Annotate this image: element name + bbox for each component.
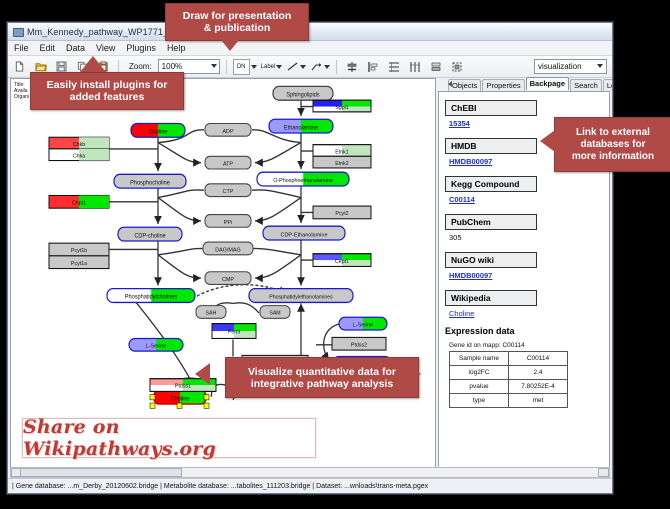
node-label: Ptdss2 [351,342,367,348]
node-label: CMP [222,277,234,283]
align-center-icon[interactable] [343,58,360,75]
pubchem-value: 305 [449,233,603,242]
datanode-tool[interactable]: DN [233,59,257,75]
kegg-link[interactable]: C00114 [449,195,603,204]
statusbar-text: | Gene database: ...m_Derby_20120602.bri… [12,483,428,490]
cell-value: 2.4 [509,366,568,380]
node-label: Phosphatidylcholines [125,295,178,301]
tab-backpage[interactable]: Backpage [526,77,569,90]
node-label: Chkb [73,142,85,148]
zoom-value: 100% [162,62,182,71]
scroll-right-arrow-icon[interactable] [598,468,609,477]
menu-edit[interactable]: Edit [39,43,57,53]
node-label: L-Serine [353,322,373,328]
section-heading-pubchem: PubChem [445,214,537,230]
window-footer: | Gene database: ...m_Derby_20120602.bri… [8,467,612,493]
callout-plugins-arrow-icon [80,56,106,72]
node-label: CTP [223,189,234,195]
callout-visualize-arrow-left-icon [195,363,210,385]
chevron-down-icon[interactable] [300,65,306,69]
callout-plugins-line2: added features [47,91,168,103]
label-tool[interactable]: Label [261,64,283,70]
metabolite-node[interactable]: CMP [205,272,251,285]
node-label: PPi [224,220,232,226]
node-label: Pcyt1b [71,248,87,254]
callout-draw-line2: & publication [183,22,292,34]
gene-node[interactable]: Sgpl1 [313,100,371,112]
distribute-horizontal-icon[interactable] [406,58,423,75]
align-left-icon[interactable] [364,58,381,75]
metabolite-node[interactable]: SAM [260,306,290,319]
node-label: Sgpl1 [335,105,349,111]
node-label: ATP [223,162,233,168]
pathvisio-app-icon [12,26,23,37]
menubar: File Edit Data View Plugins Help [8,41,612,56]
metabolite-node[interactable]: Phosphatidylcholines [107,289,195,303]
callout-links-arrow-icon [540,130,555,152]
menu-file[interactable]: File [13,43,30,53]
section-heading-kegg: Kegg Compound [445,176,537,192]
table-row: type met [450,394,568,408]
node-label: SAH [206,311,217,317]
share-banner: Share on Wikipathways.org [22,418,316,458]
stack-icon[interactable] [427,58,444,75]
node-label: Pcyt1a [71,261,88,267]
metabolite-node[interactable]: Sphingolipids [273,86,333,100]
gene-node[interactable]: Cept1 [313,254,371,267]
node-label: Phosphocholine [130,180,170,186]
callout-links-line3: more information [572,151,654,163]
node-label: Etnk1 [335,149,349,155]
menu-data[interactable]: Data [65,43,86,53]
node-label: Choline [149,129,168,135]
gene-node[interactable]: Ptdss2 [332,337,386,350]
callout-links-line2: databases for [572,139,654,151]
metabolite-node[interactable]: Phosphocholine [114,174,186,188]
new-file-icon[interactable] [11,58,28,75]
interaction-tool[interactable] [310,61,330,72]
metabolite-node[interactable]: L-Serine [129,338,183,351]
distribute-vertical-icon[interactable] [385,58,402,75]
menu-help[interactable]: Help [166,43,187,53]
cell-value: met [509,394,568,408]
section-heading-nugo: NuGO wiki [445,252,537,268]
gene-node[interactable]: Etnk2 [313,156,371,168]
tab-objects[interactable]: Objects [448,79,481,91]
callout-visualize: Visualize quantitative data for integrat… [225,357,419,398]
cell-label: pvalue [450,380,509,394]
datanode-icon: DN [233,59,250,75]
gene-node[interactable]: Etnk1 [313,145,371,157]
node-label: DAG/MAG [215,247,240,253]
metabolite-node[interactable]: O-Phosphoethanolamine [257,172,349,186]
callout-visualize-line2: integrative pathway analysis [248,378,396,390]
table-row: log2FC 2.4 [450,366,568,380]
tab-legend[interactable]: Legend [603,79,613,91]
wikipedia-link[interactable]: Choline [449,309,603,318]
visualization-combo[interactable]: visualization [534,59,607,74]
section-heading-hmdb: HMDB [445,138,537,154]
cell-value: C00114 [509,352,568,366]
node-label: Sphingolipids [286,92,319,98]
metabolite-node[interactable]: ADP [205,123,251,136]
metabolite-node[interactable]: ATP [205,156,251,169]
callout-draw-line1: Draw for presentation [183,10,292,22]
tab-properties[interactable]: Properties [482,79,524,91]
line-icon [286,61,299,72]
node-label: SAM [269,311,281,317]
toolbar-separator-3 [336,60,337,74]
node-label: Ptdss1 [175,384,191,390]
metabolite-node[interactable]: DAG/MAG [203,242,253,255]
section-heading-chebi: ChEBI [445,100,537,116]
menu-plugins[interactable]: Plugins [125,43,157,53]
visualization-value: visualization [538,62,582,71]
node-label: L-Serine [146,343,166,349]
metabolite-node[interactable]: L-Serine [339,317,387,330]
zoom-label: Zoom: [129,62,152,71]
metabolite-node[interactable]: Choline [131,123,185,137]
statusbar: | Gene database: ...m_Derby_20120602.bri… [8,478,612,493]
node-label: Chpt1 [72,200,86,206]
callout-visualize-line1: Visualize quantitative data for [248,366,396,378]
node-label: Pcyt2 [335,211,348,217]
node-label: Chka [73,153,86,159]
node-label: Cept1 [335,259,349,265]
line-tool[interactable] [286,61,306,72]
toolbar-separator-2 [226,60,227,74]
metabolite-node[interactable]: Phosphatidylethanolamines [249,289,353,303]
node-label: Phosphatidylethanolamines [269,295,333,301]
node-label: CDP-Ethanolamine [280,232,327,238]
menu-view[interactable]: View [95,43,116,53]
window-titlebar: Mm_Kennedy_pathway_WP1771_45176.gpml [8,23,612,41]
node-label: Pemt [228,330,241,336]
cell-value: 7.80252E-4 [509,380,568,394]
gene-node[interactable]: Pcyt1b [49,243,109,256]
node-label: Ethanolamine [284,125,318,131]
chevron-down-icon[interactable] [276,65,282,69]
callout-visualize-arrow-right-icon [406,363,421,385]
metabolite-node[interactable]: CTP [205,184,251,197]
table-row: pvalue 7.80252E-4 [450,380,568,394]
group-icon[interactable] [448,58,465,75]
chevron-down-icon [597,64,603,68]
node-label: CDP-choline [134,233,165,239]
horizontal-scrollbar[interactable] [10,467,610,478]
section-heading-wikipedia: Wikipedia [445,290,537,306]
chevron-down-icon[interactable] [324,65,330,69]
gene-id-line: Gene id on mapp: C00114 [449,342,603,349]
datanode-glyph-label: DN [237,64,246,70]
gene-node[interactable]: Pcyt1a [49,256,109,269]
gene-node[interactable]: Pemt [212,324,256,339]
cell-label: Sample name [450,352,509,366]
callout-plugins-line1: Easily install plugins for [47,79,168,91]
gene-node[interactable]: Chka [49,149,109,161]
metabolite-node[interactable]: CDP-choline [118,227,182,241]
callout-plugins: Easily install plugins for added feature… [30,72,184,110]
callout-links: Link to external databases for more info… [554,117,670,172]
expression-data-heading: Expression data [445,326,603,336]
label-tool-label: Label [261,64,276,70]
table-row: Sample name C00114 [450,352,568,366]
node-label: ADP [222,129,233,135]
node-label: Choline [171,396,190,402]
node-label: Etnk2 [335,161,349,167]
callout-draw-arrow-icon [217,35,243,51]
chevron-down-icon[interactable] [251,65,257,69]
metabolite-node[interactable]: Ethanolamine [269,119,333,133]
cell-label: log2FC [450,366,509,380]
nugo-link[interactable]: HMDB00097 [449,271,603,280]
node-label: O-Phosphoethanolamine [273,178,333,184]
gene-node[interactable]: Chkb [49,137,109,149]
gene-node[interactable]: Chpt1 [49,195,109,208]
gene-node[interactable]: Pcyt2 [313,206,371,219]
scrollbar-thumb[interactable] [20,468,182,477]
metabolite-node[interactable]: SAH [196,306,226,319]
chevron-down-icon [211,64,217,68]
callout-links-line1: Link to external [572,127,654,139]
tab-search[interactable]: Search [570,79,602,91]
interaction-icon [310,61,323,72]
share-banner-text: Share on Wikipathways.org [23,416,315,460]
cell-label: type [450,394,509,408]
screenshot-root: Mm_Kennedy_pathway_WP1771_45176.gpml Fil… [0,0,670,509]
expression-table: Sample name C00114 log2FC 2.4 pvalue 7.8… [449,351,568,408]
side-panel-tabs: Objects Properties Backpage Search Legen… [438,78,610,91]
metabolite-node[interactable]: CDP-Ethanolamine [263,226,345,240]
metabolite-node[interactable]: PPi [205,215,251,228]
